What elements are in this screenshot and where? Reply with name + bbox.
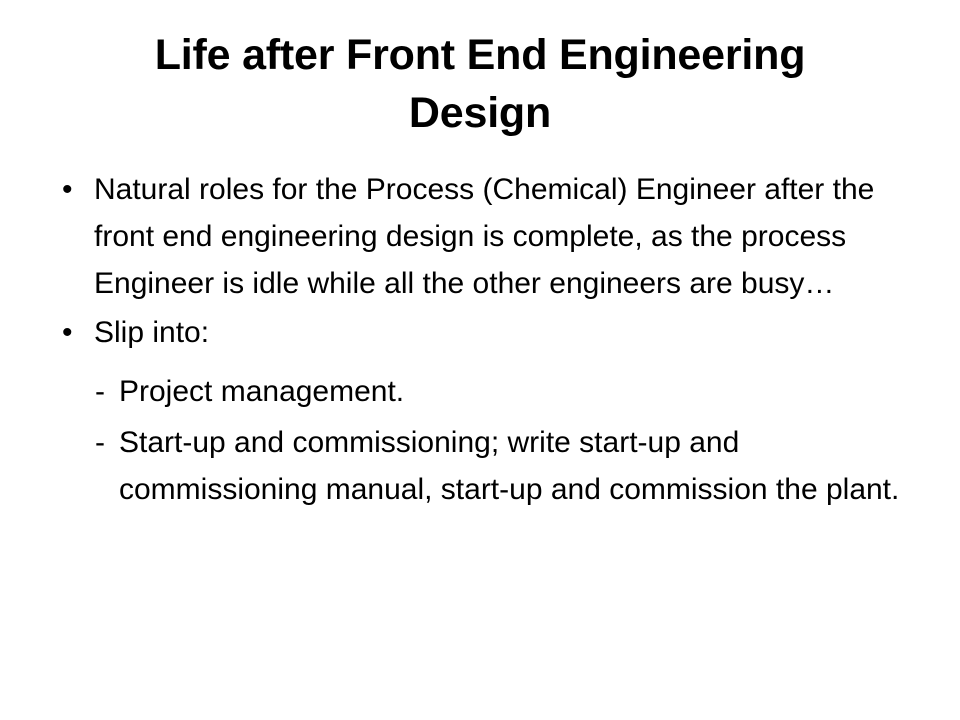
dash-marker-icon: - — [95, 368, 105, 415]
sub-item: - Project management. — [56, 368, 908, 415]
slide-title: Life after Front End Engineering Design — [60, 26, 900, 142]
slide-title-line-1: Life after Front End Engineering — [60, 26, 900, 84]
bullet-dot-icon: • — [62, 309, 73, 356]
bullet-item: • Natural roles for the Process (Chemica… — [56, 166, 908, 307]
sub-item-text: Start-up and commissioning; write start-… — [119, 419, 908, 513]
slide-canvas: Life after Front End Engineering Design … — [0, 0, 960, 720]
bullet-item-text: Slip into: — [94, 309, 908, 356]
bullet-dot-icon: • — [62, 166, 73, 213]
spacer — [56, 358, 908, 364]
slide-title-line-2: Design — [60, 84, 900, 142]
bullet-item: • Slip into: — [56, 309, 908, 356]
bullet-item-text: Natural roles for the Process (Chemical)… — [94, 166, 908, 307]
sub-item-text: Project management. — [119, 368, 908, 415]
slide-body: • Natural roles for the Process (Chemica… — [56, 166, 908, 513]
dash-marker-icon: - — [95, 419, 105, 466]
sub-item: - Start-up and commissioning; write star… — [56, 419, 908, 513]
